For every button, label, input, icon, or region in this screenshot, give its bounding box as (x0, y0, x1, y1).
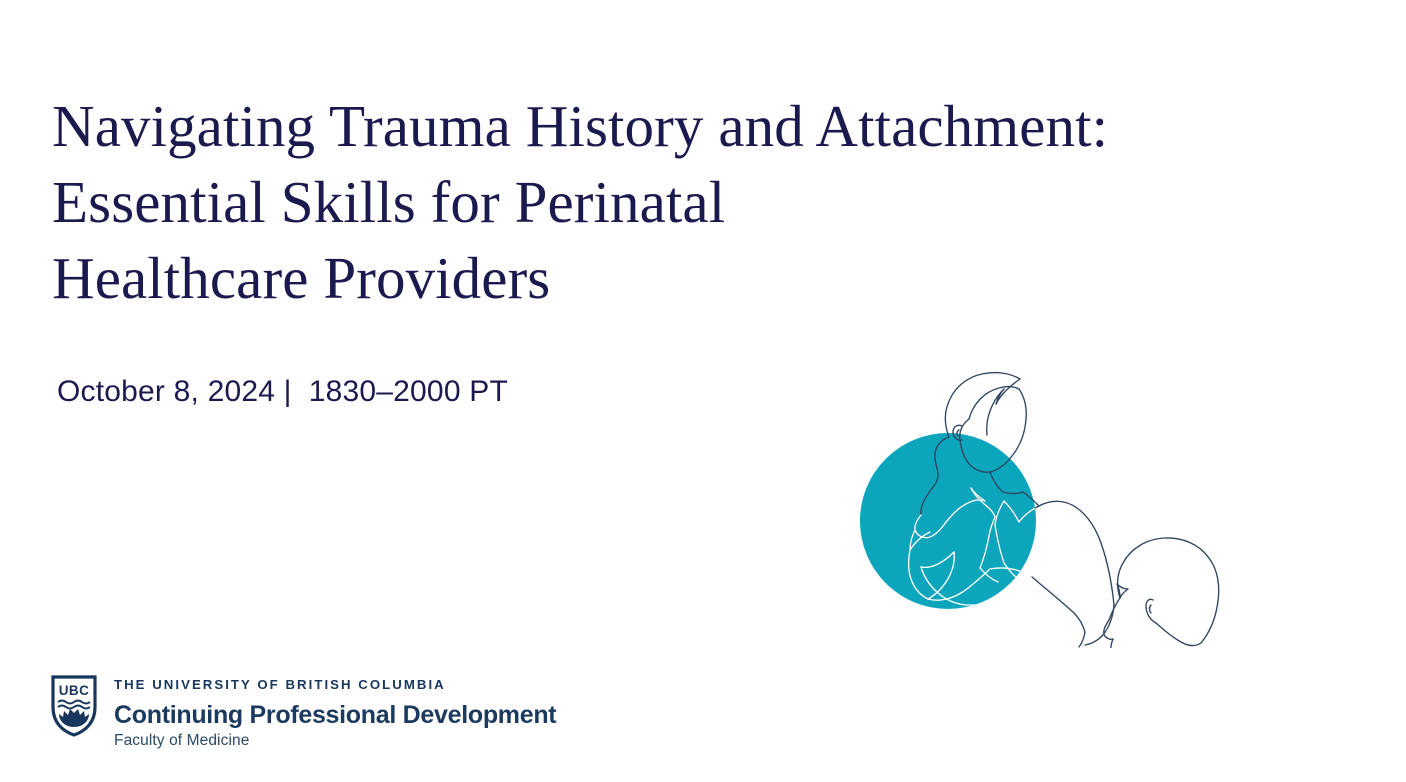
unit-name: Continuing Professional Development (114, 700, 556, 730)
faculty-name: Faculty of Medicine (114, 731, 556, 750)
event-date-time: October 8, 2024 | 1830–2000 PT (57, 374, 508, 410)
title-slide: Navigating Trauma History and Attachment… (0, 0, 1406, 782)
svg-text:UBC: UBC (59, 683, 89, 698)
university-name: THE UNIVERSITY OF BRITISH COLUMBIA (114, 677, 556, 693)
ubc-logo-text: THE UNIVERSITY OF BRITISH COLUMBIA Conti… (114, 674, 556, 750)
two-people-line-art-illustration (820, 268, 1300, 648)
ubc-logo-lockup: UBC THE UNIVERSITY OF BRITISH COLUMBIA C… (51, 674, 556, 750)
ubc-crest-icon: UBC (51, 675, 97, 737)
